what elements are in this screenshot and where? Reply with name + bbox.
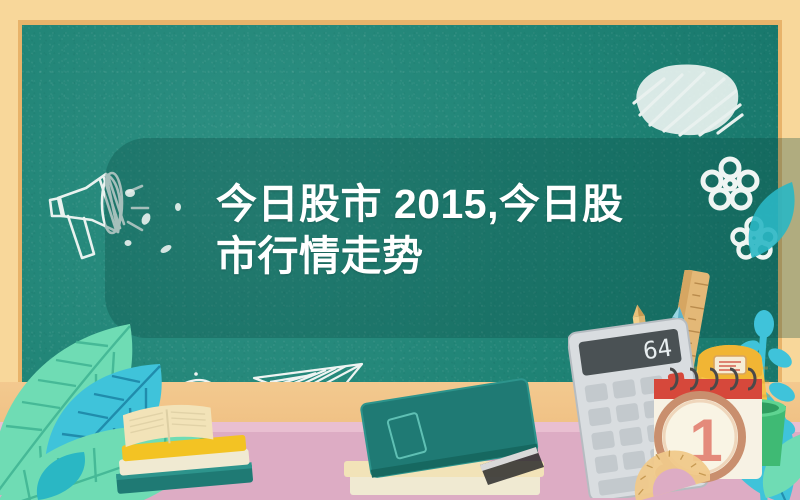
cover-image: 今日股市 2015,今日股市行情走势 — [0, 0, 800, 500]
leaf-aqua-right-top — [742, 180, 800, 260]
book-stack-middle — [330, 375, 560, 500]
page-title: 今日股市 2015,今日股市行情走势 — [216, 178, 636, 282]
protractor-icon — [620, 420, 710, 500]
book-stack-left — [110, 402, 260, 494]
leaf-small-teal-left — [30, 448, 90, 500]
scribble-cloud-icon — [620, 45, 750, 150]
chalk-dots-icon — [120, 185, 190, 265]
